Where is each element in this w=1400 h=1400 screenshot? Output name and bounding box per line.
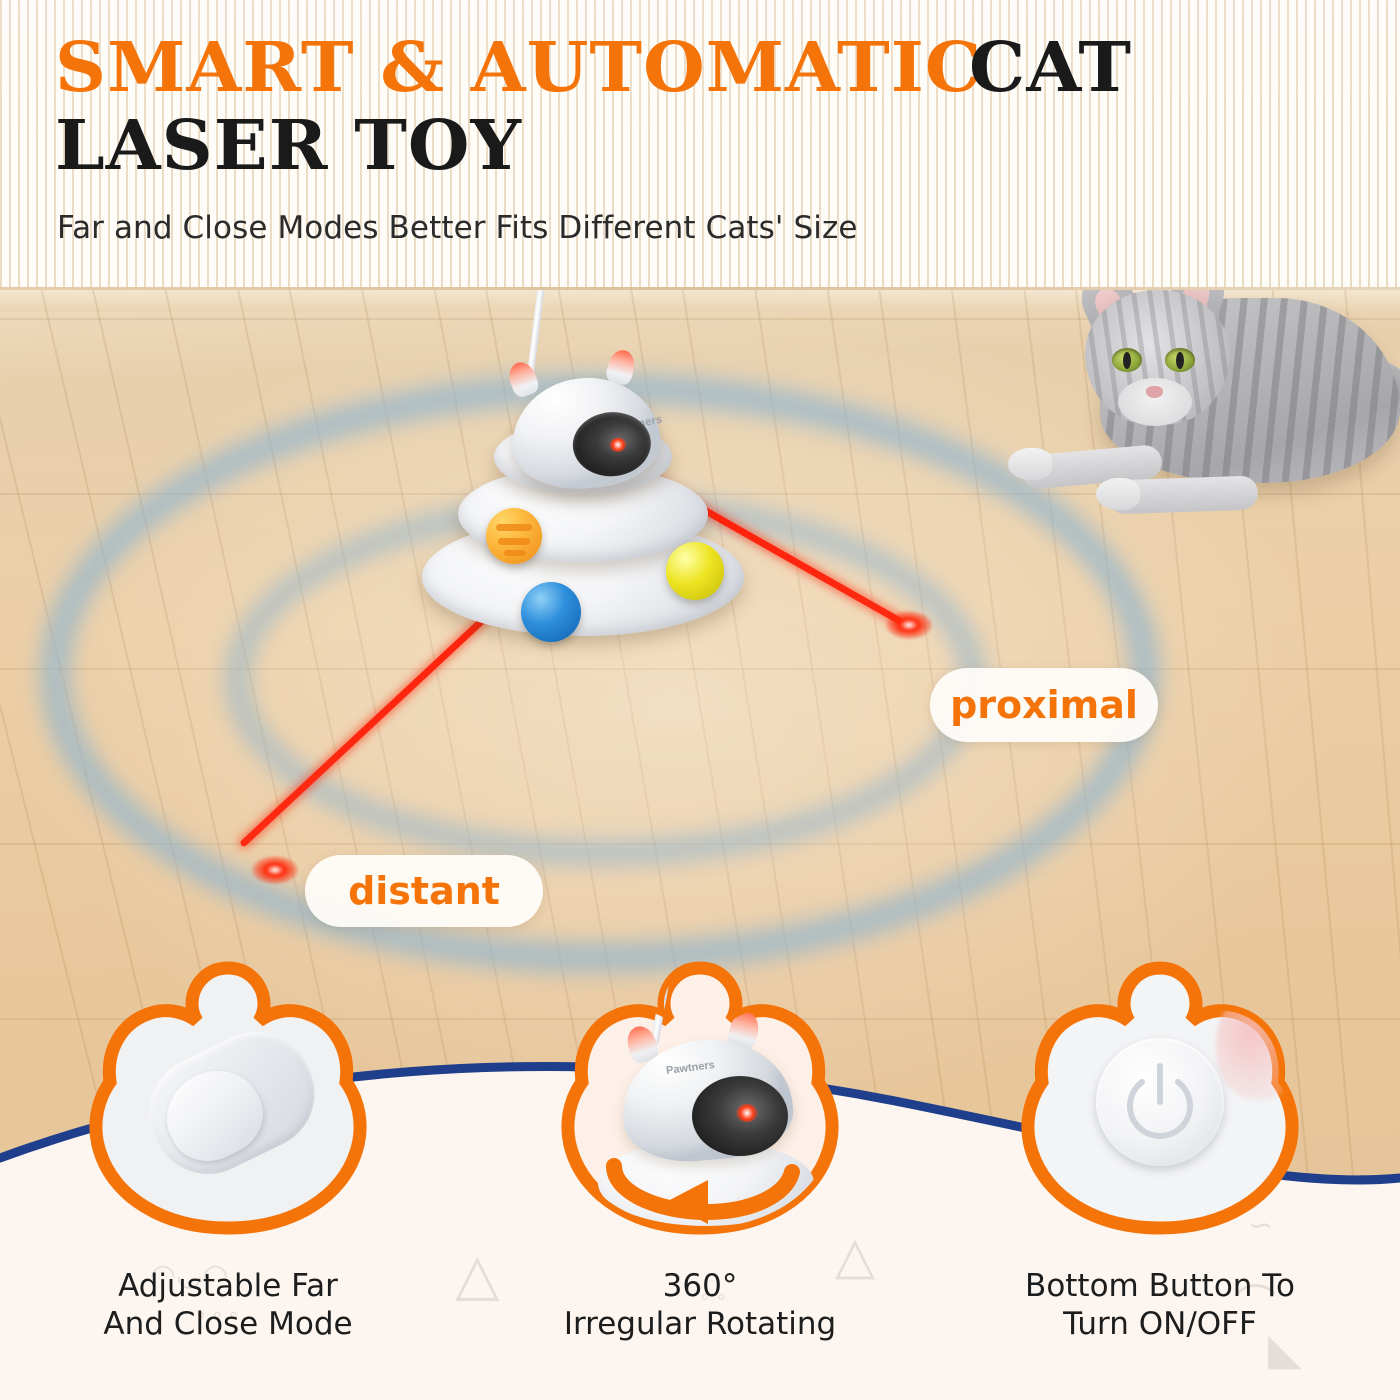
- mini-device-icon: Pawtners: [580, 1000, 820, 1230]
- feature-caption-2: 360° Irregular Rotating: [490, 1268, 910, 1344]
- cat-photo: [1000, 288, 1400, 558]
- laser-dot-distant: [252, 856, 298, 884]
- feature-row: Adjustable Far And Close Mode: [0, 952, 1400, 1400]
- device-ear-left: [505, 359, 541, 400]
- cat-paw-left: [1008, 448, 1052, 480]
- title-line2-text: LASER TOY: [55, 112, 522, 180]
- cat-paw-right: [1096, 478, 1140, 510]
- label-proximal: proximal: [930, 668, 1158, 742]
- feature-caption-3: Bottom Button To Turn ON/OFF: [950, 1268, 1370, 1344]
- title-orange-part: SMART & AUTOMATIC: [55, 34, 982, 102]
- title-line-2: LASER TOY: [55, 112, 504, 180]
- laser-emitter-glow: [608, 437, 627, 452]
- label-proximal-text: proximal: [950, 683, 1138, 727]
- paw-badge-3: [1010, 952, 1310, 1252]
- feature-power-button[interactable]: Bottom Button To Turn ON/OFF: [950, 952, 1370, 1344]
- cat-eye-left: [1112, 348, 1142, 372]
- toy-ball-orange: [486, 508, 542, 564]
- header-subtitle: Far and Close Modes Better Fits Differen…: [57, 210, 858, 246]
- feature-caption-1: Adjustable Far And Close Mode: [18, 1268, 438, 1344]
- label-distant: distant: [305, 855, 543, 927]
- header-banner: SMART & AUTOMATICCAT LASER TOY Far and C…: [0, 0, 1400, 290]
- laser-dot-proximal: [886, 611, 932, 639]
- cat-nose: [1146, 386, 1163, 398]
- laser-tower-device: Pawtners: [418, 360, 748, 670]
- feature-adjustable-mode[interactable]: Adjustable Far And Close Mode: [18, 952, 438, 1344]
- cat-eye-right: [1165, 348, 1195, 372]
- paw-badge-2: Pawtners: [550, 952, 850, 1252]
- infographic-canvas: Pawtners: [0, 0, 1400, 1400]
- title-line-1: SMART & AUTOMATICCAT: [55, 34, 1125, 102]
- title-dark-part: CAT: [969, 34, 1132, 102]
- toy-ball-yellow: [666, 542, 724, 600]
- toy-ball-blue: [521, 582, 581, 642]
- feature-360-rotating[interactable]: Pawtners 360° Irregular Rotating: [490, 952, 910, 1344]
- power-symbol-icon: [1124, 1060, 1196, 1144]
- paw-badge-1: [78, 952, 378, 1252]
- label-distant-text: distant: [348, 869, 500, 913]
